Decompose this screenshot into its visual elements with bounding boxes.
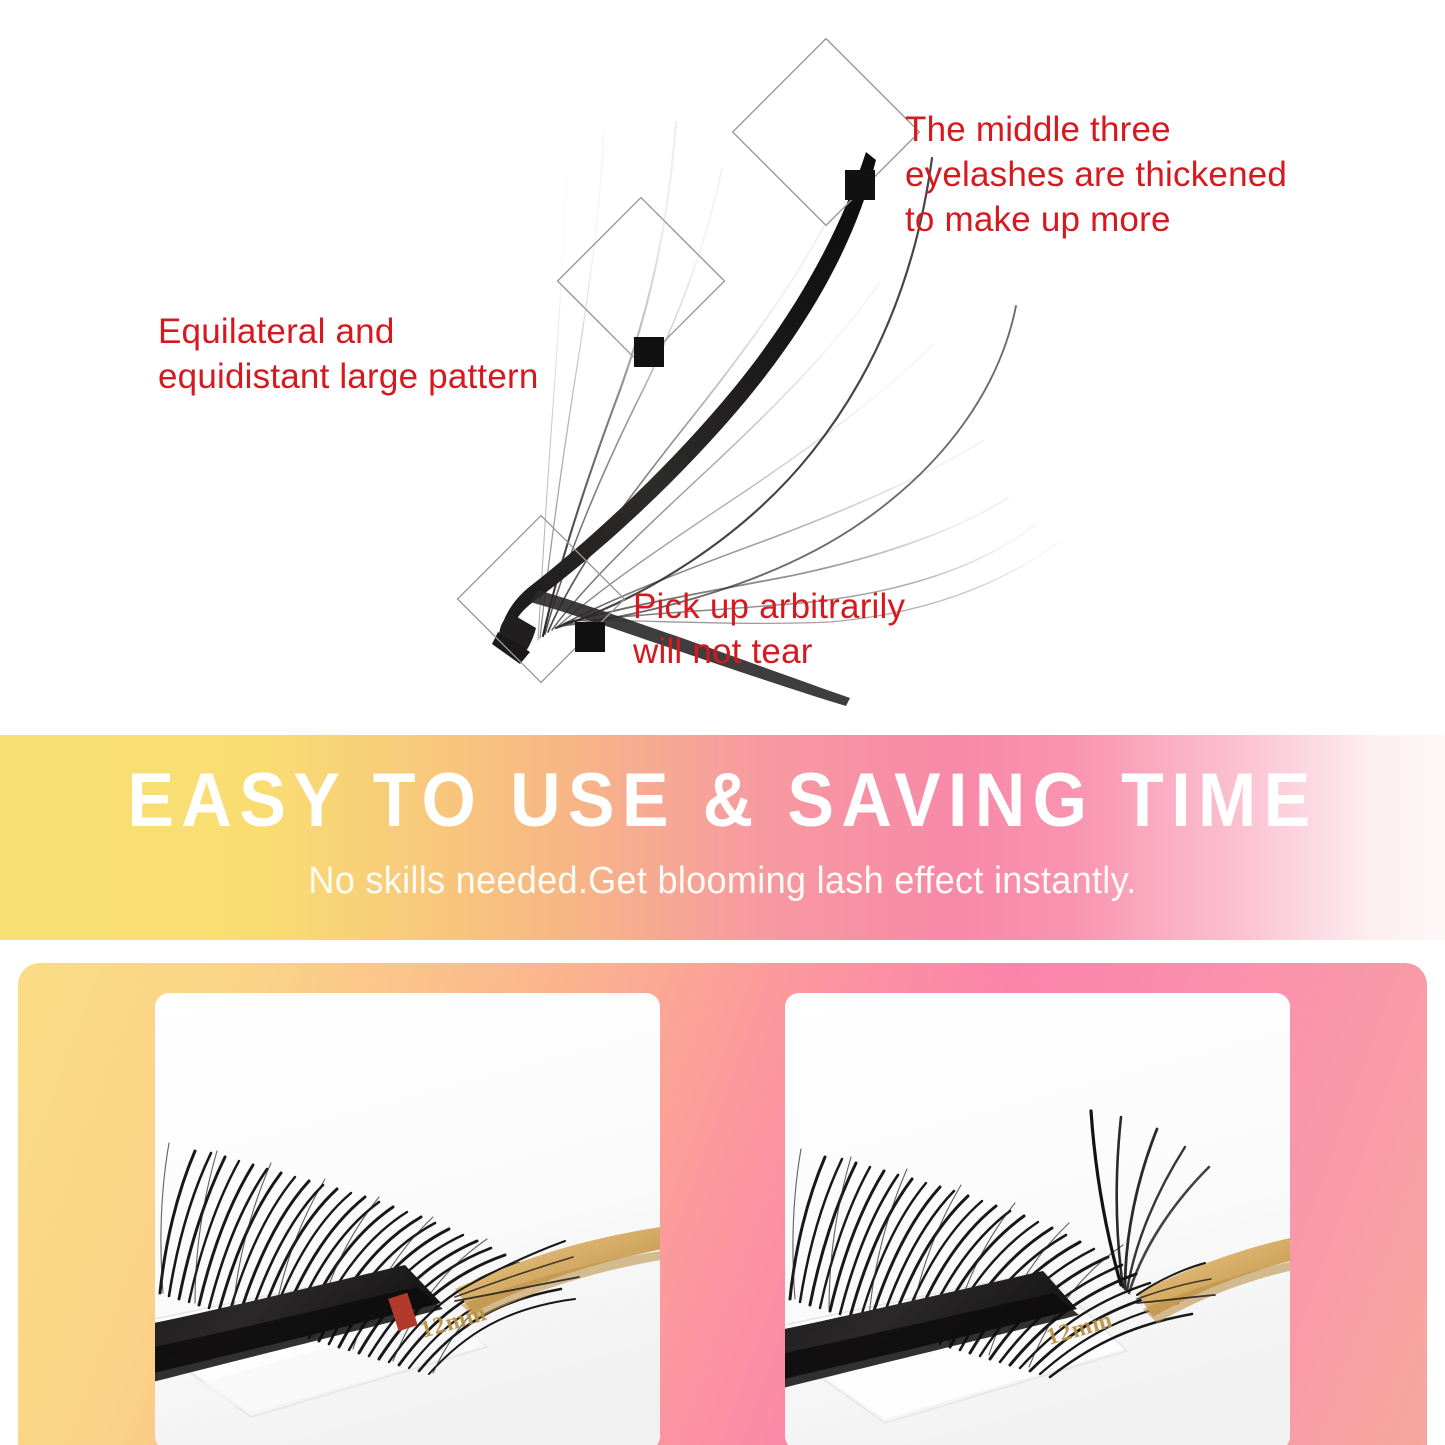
callout-text-middle-three: The middle three eyelashes are thickened… [905, 108, 1287, 242]
headline-banner: EASY TO USE & SAVING TIME No skills need… [0, 735, 1445, 940]
photo-card-lash-tray-fanning: 12mm [785, 993, 1290, 1445]
photo-card-lash-tray-tweezers: 12mm [155, 993, 660, 1445]
banner-title: EASY TO USE & SAVING TIME [58, 757, 1387, 844]
callout-text-equilateral: Equilateral and equidistant large patter… [158, 310, 539, 400]
product-photo-panel: 12mm [18, 963, 1427, 1445]
banner-subtitle: No skills needed.Get blooming lash effec… [36, 860, 1409, 903]
callout-text-pick-up: Pick up arbitrarily will not tear [633, 585, 905, 675]
top-section: The middle three eyelashes are thickened… [0, 0, 1445, 735]
